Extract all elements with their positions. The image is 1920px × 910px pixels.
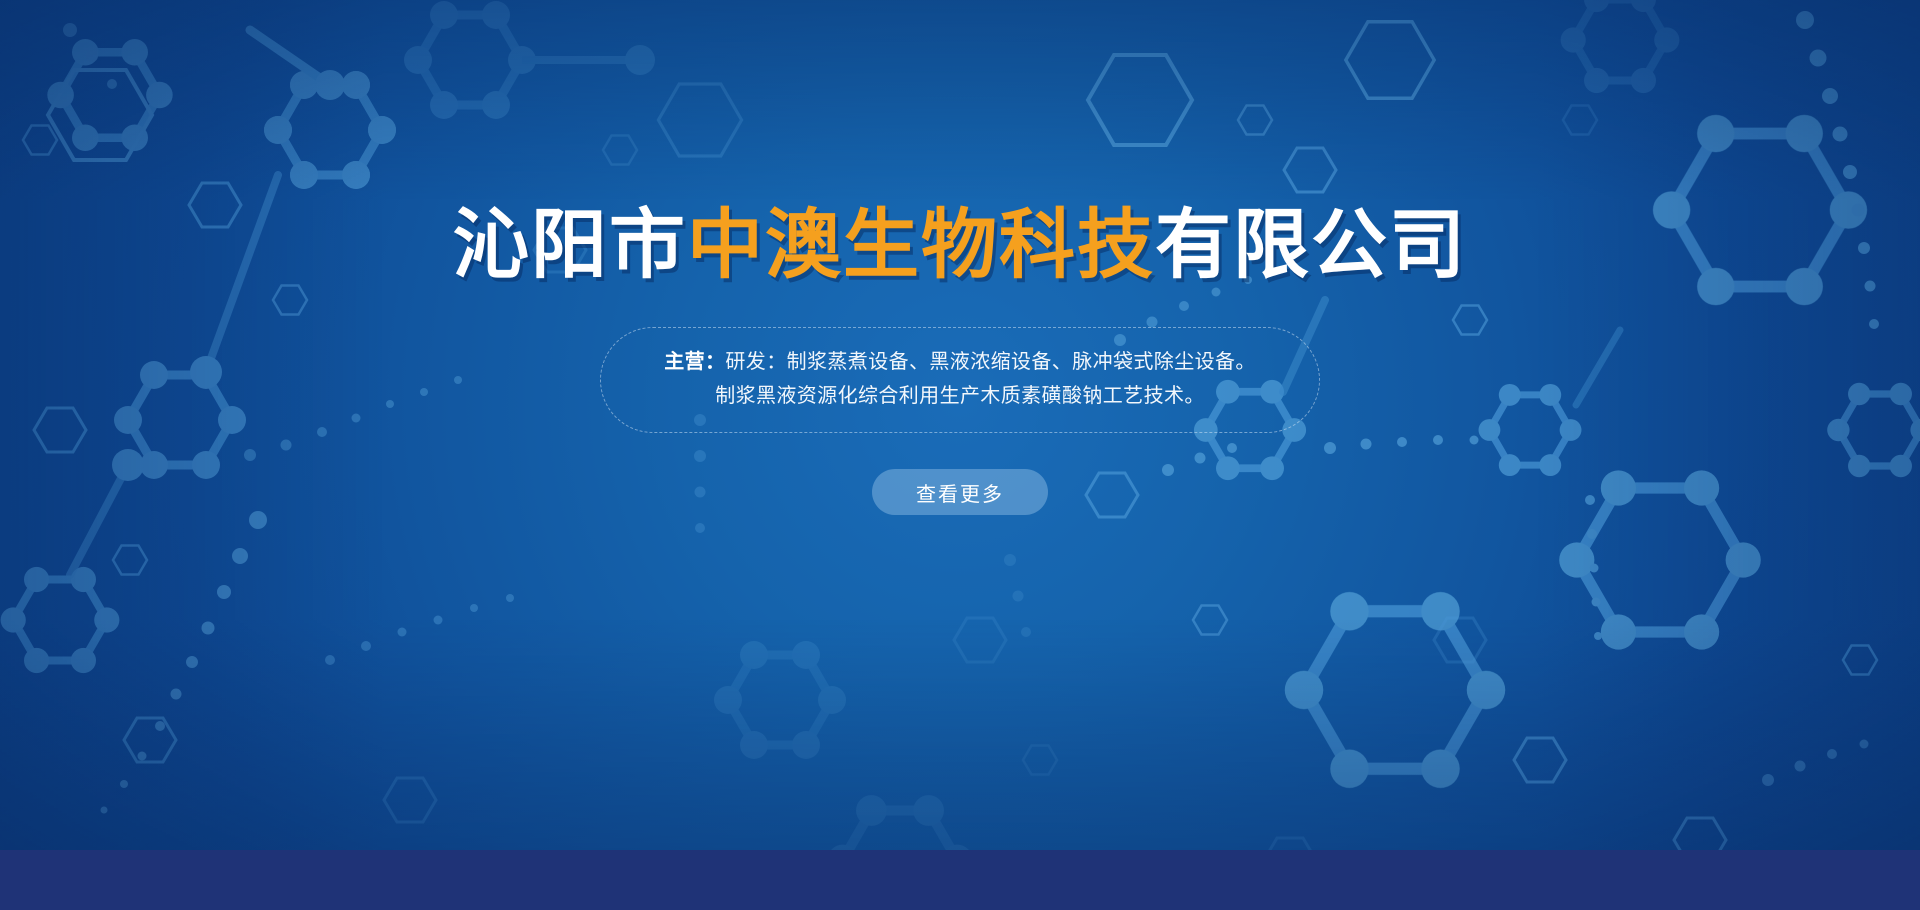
tagline-line-2: 制浆黑液资源化综合利用生产木质素磺酸钠工艺技术。 bbox=[635, 379, 1285, 413]
title-suffix: 有限公司 bbox=[1155, 203, 1467, 288]
tagline-box: 主营：研发：制浆蒸煮设备、黑液浓缩设备、脉冲袋式除尘设备。 制浆黑液资源化综合利… bbox=[600, 327, 1320, 433]
tagline-line-1-text: 研发：制浆蒸煮设备、黑液浓缩设备、脉冲袋式除尘设备。 bbox=[725, 351, 1255, 373]
page-title: 沁阳市中澳生物科技有限公司 bbox=[453, 0, 1467, 287]
title-prefix: 沁阳市 bbox=[453, 203, 687, 288]
hero-banner: 沁阳市中澳生物科技有限公司 主营：研发：制浆蒸煮设备、黑液浓缩设备、脉冲袋式除尘… bbox=[0, 0, 1920, 910]
title-accent: 中澳生物科技 bbox=[687, 203, 1155, 288]
footer-strip bbox=[0, 850, 1920, 910]
hero-content: 沁阳市中澳生物科技有限公司 主营：研发：制浆蒸煮设备、黑液浓缩设备、脉冲袋式除尘… bbox=[0, 0, 1920, 850]
tagline-line-1: 主营：研发：制浆蒸煮设备、黑液浓缩设备、脉冲袋式除尘设备。 bbox=[635, 345, 1285, 379]
view-more-button[interactable]: 查看更多 bbox=[872, 469, 1048, 515]
tagline-lead-label: 主营： bbox=[664, 351, 725, 373]
